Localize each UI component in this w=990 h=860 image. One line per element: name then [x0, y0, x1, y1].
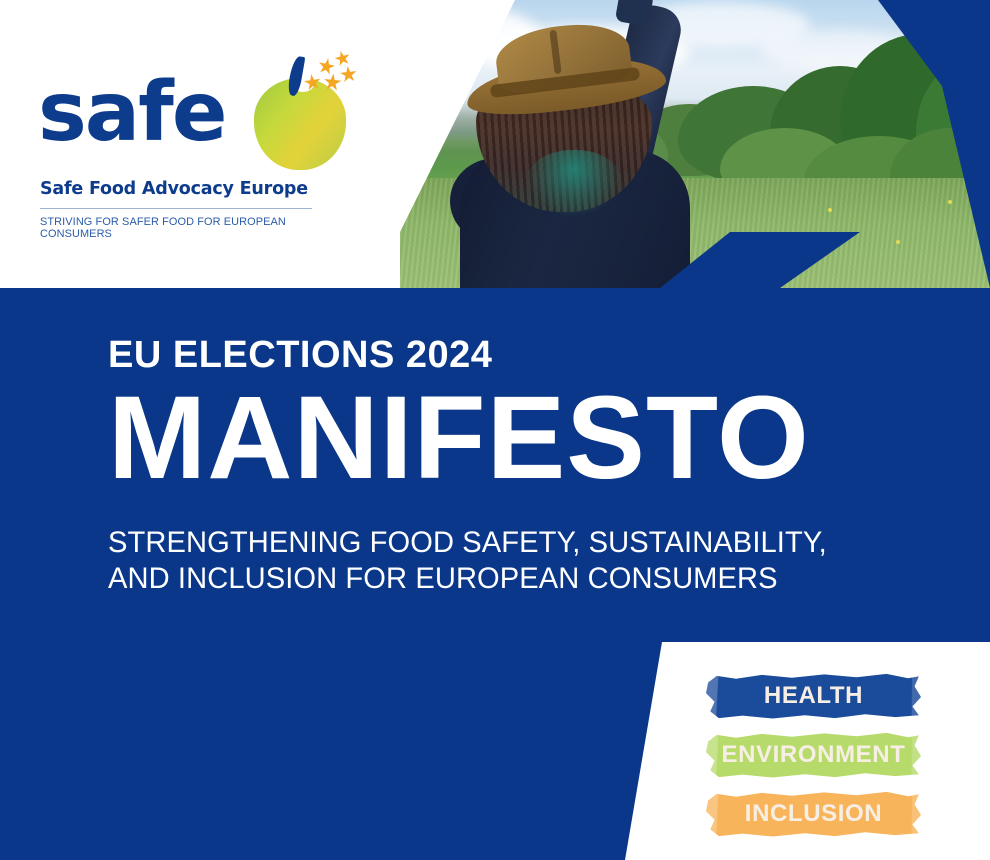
hero-subtitle-line-2: AND INCLUSION FOR EUROPEAN CONSUMERS [108, 561, 894, 598]
manifesto-cover-page: safe Safe Food Advocacy Europe STRIVING … [0, 0, 990, 860]
header-band: safe Safe Food Advocacy Europe STRIVING … [0, 0, 990, 288]
logo-organisation-name: Safe Food Advocacy Europe [40, 179, 308, 199]
eu-star-icon [316, 56, 336, 76]
badge-environment[interactable]: ENVIRONMENT [706, 731, 921, 779]
hero-subtitle-line-1: STRENGTHENING FOOD SAFETY, SUSTAINABILIT… [108, 525, 894, 562]
safe-logo: safe Safe Food Advocacy Europe STRIVING … [38, 48, 338, 238]
badge-health-label: HEALTH [764, 682, 863, 710]
logo-wordmark: safe [38, 72, 225, 154]
theme-badge-list: HEALTH ENVIRONMENT INCLUSION [706, 672, 928, 849]
hero-eyebrow: EU ELECTIONS 2024 [108, 336, 918, 374]
badge-environment-label: ENVIRONMENT [722, 741, 906, 769]
logo-tagline: STRIVING FOR SAFER FOOD FOR EUROPEAN CON… [40, 216, 326, 240]
hero-subtitle: STRENGTHENING FOOD SAFETY, SUSTAINABILIT… [108, 525, 894, 598]
badge-health[interactable]: HEALTH [706, 672, 921, 720]
badge-inclusion-label: INCLUSION [745, 800, 882, 828]
eu-star-icon [333, 49, 352, 68]
logo-mark: safe [38, 48, 338, 176]
hero-text-block: EU ELECTIONS 2024 MANIFESTO STRENGTHENIN… [108, 336, 918, 598]
page-title: MANIFESTO [108, 384, 918, 493]
badge-inclusion[interactable]: INCLUSION [706, 790, 921, 838]
hair-teal-highlight [526, 150, 622, 216]
eu-star-icon [339, 65, 358, 84]
logo-divider [40, 208, 312, 209]
